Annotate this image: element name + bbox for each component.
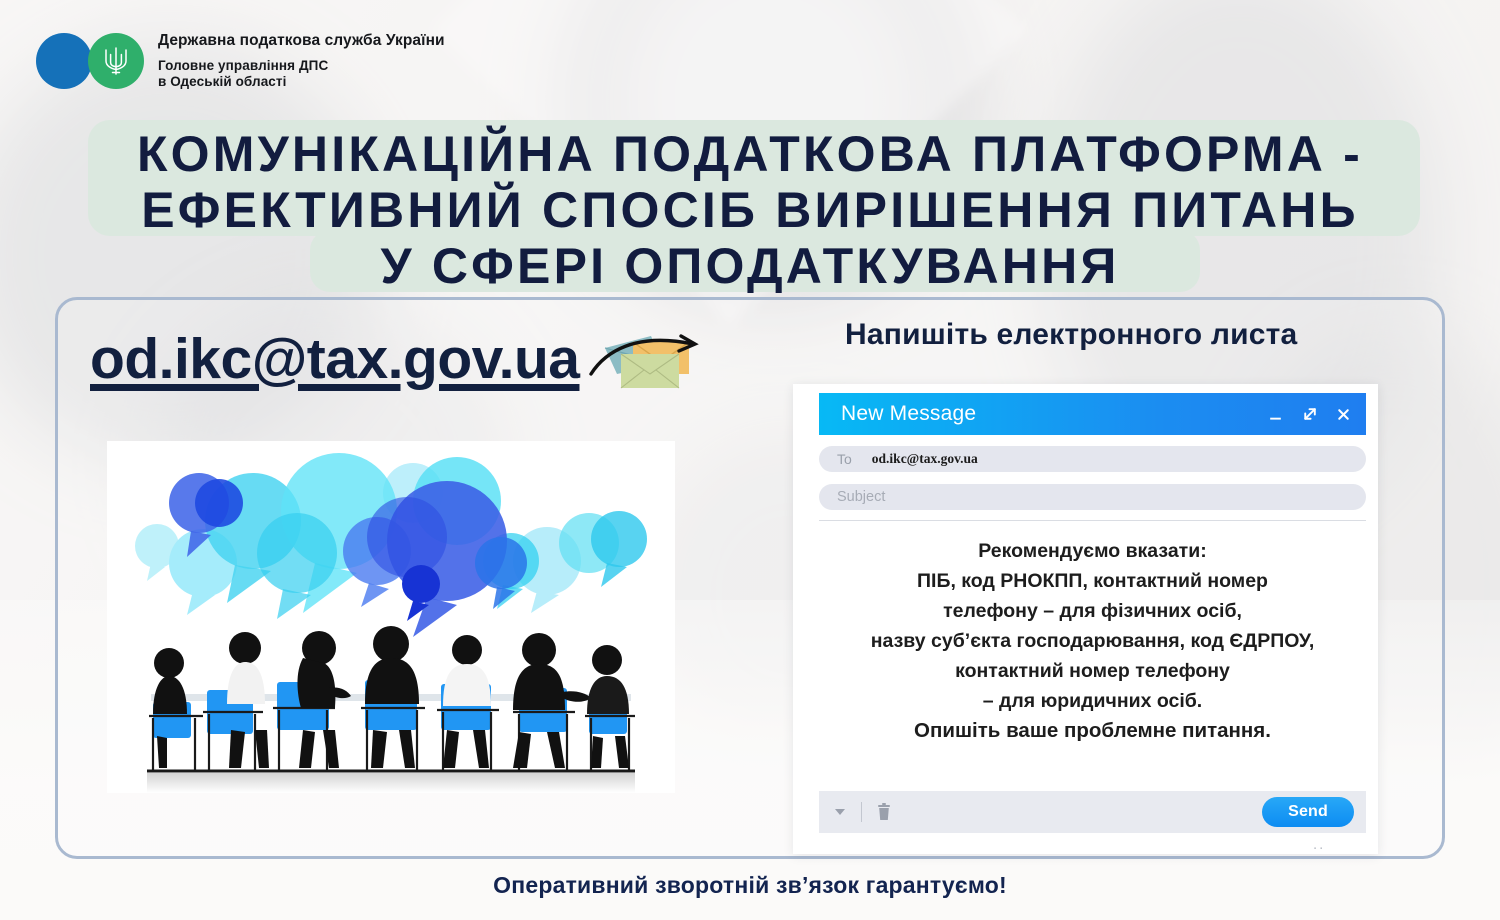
title-line-1: КОМУНІКАЦІЙНА ПОДАТКОВА ПЛАТФОРМА - bbox=[0, 126, 1500, 182]
footer-note: Оперативний зворотній зв’язок гарантуємо… bbox=[0, 872, 1500, 899]
subject-placeholder: Subject bbox=[837, 489, 885, 505]
window-controls bbox=[1267, 406, 1352, 423]
meeting-silhouette-icon bbox=[107, 618, 675, 793]
title-line-3: У СФЕРІ ОПОДАТКУВАННЯ bbox=[0, 238, 1500, 294]
compose-titlebar: New Message bbox=[819, 393, 1366, 435]
compose-ellipsis: .. bbox=[1313, 836, 1325, 853]
chevron-down-icon[interactable] bbox=[833, 805, 847, 819]
body-line: – для юридичних осіб. bbox=[827, 686, 1358, 716]
logo-green-circle bbox=[88, 33, 144, 89]
body-line-final: Опишіть ваше проблемне питання. bbox=[827, 716, 1358, 746]
body-line: телефону – для фізичних осіб, bbox=[827, 596, 1358, 626]
compose-body[interactable]: Рекомендуємо вказати: ПІБ, код РНОКПП, к… bbox=[827, 536, 1358, 746]
compose-window: New Message bbox=[793, 384, 1378, 854]
body-line: назву суб’єкта господарювання, код ЄДРПО… bbox=[827, 626, 1358, 656]
write-email-note: Напишіть електронного листа bbox=[845, 318, 1297, 352]
compose-toolbar: Send bbox=[819, 791, 1366, 833]
body-line: контактний номер телефону bbox=[827, 656, 1358, 686]
minimize-icon[interactable] bbox=[1267, 406, 1284, 423]
brand-logo: Державна податкова служба України Головн… bbox=[36, 32, 445, 90]
trash-icon[interactable] bbox=[876, 803, 892, 821]
brand-line-1: Державна податкова служба України bbox=[158, 32, 445, 50]
send-button[interactable]: Send bbox=[1262, 797, 1354, 827]
body-line: Рекомендуємо вказати: bbox=[827, 536, 1358, 566]
to-value: od.ikc@tax.gov.ua bbox=[872, 451, 978, 467]
logo-blue-circle bbox=[36, 33, 92, 89]
close-icon[interactable] bbox=[1335, 406, 1352, 423]
title-text: КОМУНІКАЦІЙНА ПОДАТКОВА ПЛАТФОРМА - ЕФЕК… bbox=[0, 112, 1500, 294]
poster-root: Державна податкова служба України Головн… bbox=[0, 0, 1500, 920]
compose-title: New Message bbox=[841, 402, 1267, 426]
illustration-card bbox=[107, 441, 675, 793]
title-line-2: ЕФЕКТИВНИЙ СПОСІБ ВИРІШЕННЯ ПИТАНЬ bbox=[0, 182, 1500, 238]
logo-marks bbox=[36, 33, 150, 89]
expand-icon[interactable] bbox=[1301, 406, 1318, 423]
brand-line-2: Головне управління ДПС bbox=[158, 58, 445, 74]
toolbar-divider bbox=[861, 802, 862, 822]
body-line: ПІБ, код РНОКПП, контактний номер bbox=[827, 566, 1358, 596]
subject-field[interactable]: Subject bbox=[819, 484, 1366, 510]
to-label: To bbox=[837, 451, 852, 467]
envelope-green bbox=[621, 354, 679, 388]
email-address-link[interactable]: od.ikc@tax.gov.ua bbox=[90, 326, 579, 392]
email-address-block: od.ikc@tax.gov.ua bbox=[90, 318, 709, 400]
envelopes-icon bbox=[589, 318, 709, 400]
page-title: КОМУНІКАЦІЙНА ПОДАТКОВА ПЛАТФОРМА - ЕФЕК… bbox=[0, 112, 1500, 294]
compose-divider bbox=[819, 520, 1366, 521]
trident-icon bbox=[101, 44, 131, 78]
brand-line-3: в Одеській області bbox=[158, 74, 445, 90]
brand-text: Державна податкова служба України Головн… bbox=[158, 32, 445, 90]
to-field[interactable]: To od.ikc@tax.gov.ua bbox=[819, 446, 1366, 472]
